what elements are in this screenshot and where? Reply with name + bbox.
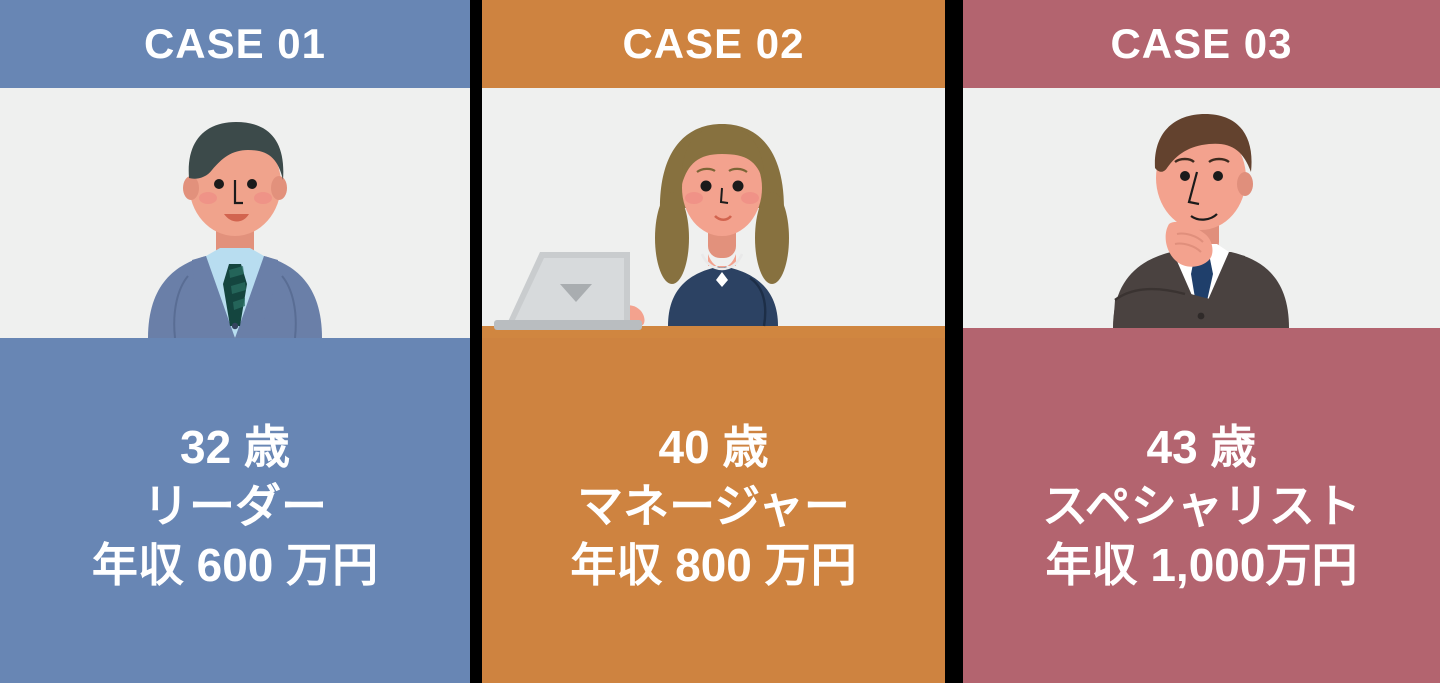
panel-gutter-2	[945, 0, 963, 683]
case-salary-03: 年収 1,000万円	[1046, 536, 1358, 595]
woman-at-laptop-icon	[482, 88, 945, 338]
case-panel-01: CASE 01	[0, 0, 470, 683]
case-role-01: リーダー	[143, 477, 327, 536]
man-thinking-icon	[963, 88, 1440, 338]
case-header-02: CASE 02	[482, 0, 945, 88]
panel-gutter-1	[470, 0, 482, 683]
case-figure-02	[482, 88, 945, 338]
case-role-02: マネージャー	[577, 477, 850, 536]
case-header-03: CASE 03	[963, 0, 1440, 88]
man-in-blue-suit-icon	[0, 88, 470, 338]
case-comparison-board: CASE 01	[0, 0, 1440, 683]
case-footer-02: 40 歳 マネージャー 年収 800 万円	[482, 338, 945, 683]
case-age-03: 43 歳	[1147, 418, 1257, 477]
case-figure-03	[963, 88, 1440, 338]
case-salary-02: 年収 800 万円	[570, 536, 856, 595]
case-panel-03: CASE 03	[963, 0, 1440, 683]
case-header-01: CASE 01	[0, 0, 470, 88]
case-footer-01: 32 歳 リーダー 年収 600 万円	[0, 338, 470, 683]
case-salary-01: 年収 600 万円	[92, 536, 378, 595]
case-figure-01	[0, 88, 470, 338]
case-panel-02: CASE 02	[482, 0, 945, 683]
case-role-03: スペシャリスト	[1042, 477, 1361, 536]
case-footer-03: 43 歳 スペシャリスト 年収 1,000万円	[963, 338, 1440, 683]
case-age-01: 32 歳	[180, 418, 290, 477]
case-age-02: 40 歳	[659, 418, 769, 477]
